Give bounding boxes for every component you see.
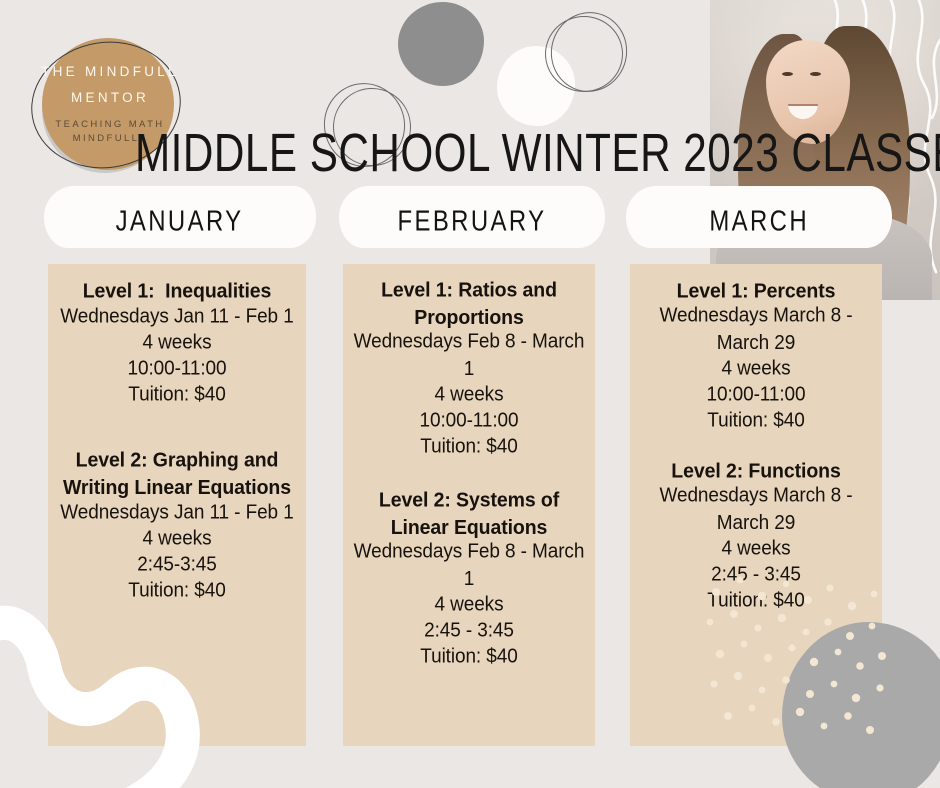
course-time: 2:45-3:45 <box>58 551 296 579</box>
course-dates: Wednesdays Feb 8 - March 1 <box>353 328 585 383</box>
course-february-level1[interactable]: Level 1: Ratios and Proportions Wednesda… <box>353 278 585 460</box>
month-banner-march: March <box>626 186 892 248</box>
course-dates: Wednesdays March 8 - March 29 <box>640 482 872 537</box>
course-january-level2[interactable]: Level 2: Graphing and Writing Linear Equ… <box>58 448 296 604</box>
course-tuition: Tuition: $40 <box>58 381 296 409</box>
course-time: 2:45 - 3:45 <box>353 617 585 645</box>
course-duration: 4 weeks <box>353 381 585 409</box>
course-dates: Wednesdays Jan 11 - Feb 1 <box>58 499 296 527</box>
course-march-level1[interactable]: Level 1: Percents Wednesdays March 8 - M… <box>640 278 872 434</box>
course-title: Level 2: Systems of Linear Equations <box>353 486 585 541</box>
course-tuition: Tuition: $40 <box>640 407 872 435</box>
course-spacer <box>58 414 296 448</box>
course-title: Level 1: Ratios and Proportions <box>353 276 585 331</box>
course-tuition: Tuition: $40 <box>58 577 296 605</box>
course-duration: 4 weeks <box>640 355 872 383</box>
course-dates: Wednesdays Jan 11 - Feb 1 <box>58 303 296 331</box>
course-january-level1[interactable]: Level 1: Inequalities Wednesdays Jan 11 … <box>58 278 296 408</box>
course-time: 10:00-11:00 <box>353 407 585 435</box>
course-tuition: Tuition: $40 <box>353 643 585 671</box>
panel-january: Level 1: Inequalities Wednesdays Jan 11 … <box>48 264 306 746</box>
course-spacer <box>640 440 872 458</box>
course-title: Level 2: Functions <box>640 457 872 485</box>
course-time: 10:00-11:00 <box>640 381 872 409</box>
course-title: Level 2: Graphing and Writing Linear Equ… <box>58 446 296 501</box>
course-duration: 4 weeks <box>58 329 296 357</box>
month-label-january: January <box>116 196 244 239</box>
course-dates: Wednesdays Feb 8 - March 1 <box>353 538 585 593</box>
panel-february: Level 1: Ratios and Proportions Wednesda… <box>343 264 595 746</box>
class-columns: January Level 1: Inequalities Wednesdays… <box>0 0 940 788</box>
course-spacer <box>353 466 585 488</box>
month-label-february: February <box>398 196 547 239</box>
course-march-level2[interactable]: Level 2: Functions Wednesdays March 8 - … <box>640 458 872 614</box>
course-tuition: Tuition: $40 <box>640 587 872 615</box>
course-duration: 4 weeks <box>58 525 296 553</box>
course-time: 2:45 - 3:45 <box>640 561 872 589</box>
panel-march: Level 1: Percents Wednesdays March 8 - M… <box>630 264 882 746</box>
month-banner-february: February <box>339 186 605 248</box>
course-february-level2[interactable]: Level 2: Systems of Linear Equations Wed… <box>353 488 585 670</box>
course-title: Level 1: Inequalities <box>58 277 296 305</box>
course-time: 10:00-11:00 <box>58 355 296 383</box>
course-duration: 4 weeks <box>640 535 872 563</box>
poster-canvas: THE MINDFULL MENTOR TEACHING MATH MINDFU… <box>0 0 940 788</box>
month-label-march: March <box>709 196 809 239</box>
course-tuition: Tuition: $40 <box>353 433 585 461</box>
course-duration: 4 weeks <box>353 591 585 619</box>
course-title: Level 1: Percents <box>640 277 872 305</box>
course-dates: Wednesdays March 8 - March 29 <box>640 302 872 357</box>
month-banner-january: January <box>44 186 316 248</box>
